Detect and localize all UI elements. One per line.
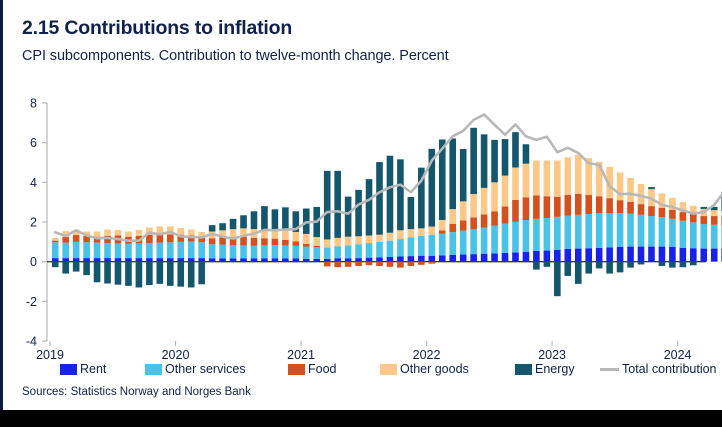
bar-segment-other-services: [94, 243, 101, 258]
legend-item-other-goods[interactable]: Other goods: [380, 362, 469, 376]
bar-segment-other-services: [282, 245, 289, 258]
bar-segment-food: [690, 214, 697, 222]
bar-segment-rent: [251, 258, 258, 261]
bar-segment-energy: [167, 262, 174, 286]
bar-segment-rent: [659, 247, 666, 262]
bar-segment-other-goods: [711, 210, 718, 216]
bar-segment-other-goods: [376, 235, 383, 242]
bar-segment-other-services: [104, 243, 111, 258]
legend-item-total-contribution[interactable]: Total contribution: [600, 362, 717, 376]
bar-segment-rent: [512, 253, 519, 262]
bar-segment-energy: [157, 262, 164, 284]
bar-segment-other-services: [523, 220, 530, 252]
bar-segment-other-services: [585, 214, 592, 248]
y-axis-tick-label: -4: [26, 335, 37, 349]
legend-color-swatch-icon: [288, 364, 305, 375]
bar-segment-rent: [366, 258, 373, 262]
bar-segment-other-goods: [345, 237, 352, 246]
bar-segment-energy: [115, 262, 122, 285]
bar-segment-other-services: [136, 243, 143, 258]
bar-segment-other-services: [429, 235, 436, 256]
bar-segment-rent: [554, 250, 561, 262]
bar-segment-rent: [429, 256, 436, 262]
bar-segment-rent: [700, 249, 707, 262]
bar-segment-other-services: [460, 231, 467, 255]
bar-segment-rent: [638, 247, 645, 262]
bar-segment-energy: [564, 262, 571, 276]
bar-segment-rent: [585, 248, 592, 261]
bar-segment-other-services: [700, 224, 707, 249]
bar-segment-other-services: [690, 222, 697, 248]
bar-segment-rent: [449, 255, 456, 262]
bar-segment-food: [669, 210, 676, 219]
bar-segment-food: [554, 197, 561, 217]
bar-segment-other-services: [167, 242, 174, 258]
bar-segment-food: [313, 246, 320, 247]
bar-segment-food: [397, 262, 404, 268]
bar-segment-other-goods: [512, 167, 519, 200]
legend-color-swatch-icon: [380, 364, 397, 375]
bar-segment-food: [387, 262, 394, 267]
bar-segment-other-goods: [638, 184, 645, 204]
bar-segment-rent: [408, 256, 415, 262]
bar-segment-other-goods: [125, 232, 132, 237]
bar-segment-other-goods: [439, 220, 446, 230]
bar-segment-energy: [177, 262, 184, 287]
bar-segment-rent: [355, 258, 362, 262]
bar-segment-rent: [491, 253, 498, 261]
bar-segment-energy: [659, 262, 666, 266]
bar-segment-other-services: [554, 217, 561, 250]
bar-segment-other-goods: [502, 176, 509, 207]
bar-segment-rent: [52, 258, 59, 262]
bar-segment-energy: [136, 262, 143, 288]
bar-segment-food: [585, 195, 592, 214]
bar-segment-other-services: [125, 244, 132, 258]
bar-segment-food: [470, 217, 477, 229]
bar-segment-energy: [209, 225, 216, 231]
bar-segment-rent: [125, 258, 132, 262]
bar-segment-other-services: [177, 242, 184, 258]
bar-segment-energy: [376, 162, 383, 235]
bar-segment-other-goods: [397, 230, 404, 239]
bar-segment-food: [481, 214, 488, 227]
bar-segment-food: [439, 230, 446, 233]
bar-segment-other-services: [209, 244, 216, 258]
bar-segment-other-services: [680, 221, 687, 248]
bar-segment-food: [293, 241, 300, 245]
legend-color-swatch-icon: [60, 364, 77, 375]
bar-segment-energy: [397, 159, 404, 230]
bar-segment-other-services: [512, 222, 519, 253]
bar-segment-rent: [146, 258, 153, 262]
bar-segment-food: [408, 262, 415, 266]
bar-segment-energy: [690, 262, 697, 266]
bar-segment-food: [429, 262, 436, 264]
bar-segment-energy: [146, 262, 153, 285]
bar-segment-other-goods: [627, 178, 634, 202]
bar-segment-other-services: [564, 216, 571, 249]
bar-segment-other-services: [544, 218, 551, 251]
bar-segment-rent: [481, 254, 488, 262]
bar-segment-food: [680, 212, 687, 221]
bar-segment-other-goods: [282, 231, 289, 240]
bar-segment-other-services: [596, 213, 603, 248]
bar-segment-rent: [617, 247, 624, 262]
bar-segment-rent: [62, 258, 69, 262]
bar-segment-energy: [617, 262, 624, 273]
bar-segment-other-goods: [313, 237, 320, 246]
bar-segment-food: [491, 211, 498, 225]
bar-segment-other-services: [648, 216, 655, 247]
bar-segment-rent: [177, 258, 184, 262]
legend-color-swatch-icon: [515, 364, 532, 375]
bar-segment-energy: [73, 262, 80, 272]
bar-segment-rent: [115, 258, 122, 262]
bar-segment-energy: [387, 156, 394, 233]
bar-segment-rent: [73, 258, 80, 262]
bar-segment-rent: [293, 258, 300, 261]
x-axis-tick-label: 2022: [413, 348, 441, 362]
bar-segment-rent: [439, 255, 446, 261]
bar-segment-rent: [272, 258, 279, 261]
y-axis-tick-label: -2: [26, 295, 37, 309]
bar-segment-energy: [700, 207, 707, 209]
bar-segment-food: [700, 216, 707, 224]
bar-segment-rent: [397, 257, 404, 262]
bar-segment-food: [502, 207, 509, 224]
bar-segment-other-goods: [418, 228, 425, 236]
bar-segment-other-goods: [523, 164, 530, 198]
bar-segment-other-goods: [429, 227, 436, 235]
bar-segment-food: [418, 262, 425, 265]
bar-segment-other-services: [439, 234, 446, 256]
bar-segment-energy: [554, 262, 561, 297]
bar-segment-other-services: [575, 215, 582, 249]
bar-segment-rent: [376, 257, 383, 261]
bar-segment-rent: [669, 247, 676, 262]
bar-segment-other-services: [502, 224, 509, 253]
bar-segment-food: [711, 216, 718, 225]
y-axis-tick-label: 4: [30, 176, 37, 190]
chart-plot-area: -4-202468201920202021202220232024: [0, 0, 722, 380]
bar-segment-energy: [648, 187, 655, 189]
bar-segment-rent: [460, 255, 467, 262]
bar-segment-rent: [198, 258, 205, 262]
bar-segment-other-services: [606, 213, 613, 247]
bar-segment-food: [345, 262, 352, 267]
bar-segment-rent: [523, 252, 530, 262]
bar-segment-rent: [334, 258, 341, 261]
bar-segment-rent: [240, 258, 247, 261]
bar-segment-rent: [219, 258, 226, 261]
legend-item-rent[interactable]: Rent: [60, 362, 106, 376]
bar-segment-food: [512, 200, 519, 222]
bar-segment-other-goods: [324, 239, 331, 247]
legend-item-energy[interactable]: Energy: [515, 362, 575, 376]
bar-segment-food: [638, 204, 645, 215]
bar-segment-other-goods: [470, 194, 477, 217]
bar-segment-rent: [575, 249, 582, 262]
y-axis-tick-label: 8: [30, 97, 37, 111]
bar-segment-rent: [188, 258, 195, 262]
bar-segment-rent: [157, 258, 164, 262]
chart-legend: RentOther servicesFoodOther goodsEnergyT…: [60, 361, 700, 377]
bar-segment-other-services: [659, 217, 666, 246]
bar-segment-other-services: [387, 241, 394, 257]
legend-item-label: Other services: [165, 362, 246, 376]
bar-segment-food: [659, 208, 666, 218]
bar-segment-food: [62, 237, 69, 243]
y-axis-tick-label: 2: [30, 216, 37, 230]
x-axis-tick-label: 2024: [664, 348, 692, 362]
bar-segment-other-services: [408, 237, 415, 256]
bar-segment-other-services: [52, 242, 59, 258]
bar-segment-other-services: [533, 219, 540, 251]
bar-segment-rent: [282, 258, 289, 261]
bar-segment-energy: [219, 223, 226, 230]
bar-segment-rent: [544, 251, 551, 262]
bar-segment-other-services: [324, 247, 331, 259]
bar-segment-food: [366, 262, 373, 266]
bar-segment-other-services: [198, 242, 205, 258]
bar-segment-other-goods: [230, 229, 237, 237]
bar-segment-other-goods: [104, 230, 111, 236]
bar-segment-other-services: [146, 243, 153, 258]
bar-segment-other-services: [449, 232, 456, 255]
x-axis-tick-label: 2019: [36, 348, 64, 362]
bar-segment-other-services: [481, 228, 488, 254]
bar-segment-other-services: [230, 245, 237, 258]
bar-segment-rent: [313, 259, 320, 262]
bar-segment-food: [209, 238, 216, 244]
bar-segment-energy: [449, 139, 456, 210]
bar-segment-energy: [272, 209, 279, 230]
bar-segment-energy: [324, 171, 331, 240]
bar-segment-other-services: [345, 245, 352, 258]
bar-segment-rent: [303, 259, 310, 262]
bar-segment-energy: [627, 262, 634, 268]
bar-segment-other-services: [376, 242, 383, 257]
bar-segment-other-services: [470, 229, 477, 254]
bar-segment-other-services: [491, 226, 498, 254]
bar-segment-food: [52, 241, 59, 243]
bar-segment-food: [575, 194, 582, 215]
bar-segment-other-goods: [334, 238, 341, 246]
bar-segment-other-goods: [355, 236, 362, 244]
bar-segment-energy: [669, 262, 676, 268]
y-axis-tick-label: 6: [30, 136, 37, 150]
bar-segment-other-services: [293, 246, 300, 259]
bar-segment-other-services: [397, 239, 404, 256]
bar-segment-other-goods: [554, 161, 561, 197]
bar-segment-other-goods: [136, 230, 143, 236]
bar-segment-food: [523, 197, 530, 220]
bar-segment-food: [617, 200, 624, 213]
bar-segment-rent: [606, 247, 613, 261]
bar-segment-food: [376, 262, 383, 266]
bar-segment-other-goods: [533, 161, 540, 196]
bar-segment-energy: [575, 262, 582, 284]
contributions-to-inflation-chart: -4-202468201920202021202220232024: [0, 0, 722, 380]
bar-segment-food: [355, 262, 362, 266]
bar-segment-rent: [167, 258, 174, 262]
legend-color-swatch-icon: [145, 364, 162, 375]
bar-segment-energy: [125, 262, 132, 286]
bar-segment-other-goods: [449, 209, 456, 224]
bar-segment-food: [167, 234, 174, 242]
bar-segment-energy: [638, 262, 645, 265]
bar-segment-energy: [470, 128, 477, 194]
bar-segment-energy: [198, 262, 205, 285]
bar-segment-food: [627, 202, 634, 214]
bar-segment-energy: [261, 206, 268, 230]
bar-segment-energy: [502, 139, 509, 175]
bar-segment-rent: [261, 258, 268, 261]
bar-segment-other-goods: [481, 188, 488, 215]
bar-segment-other-goods: [564, 157, 571, 195]
bar-segment-energy: [491, 140, 498, 182]
bar-segment-rent: [83, 258, 90, 262]
bar-segment-energy: [596, 262, 603, 269]
legend-item-label: Energy: [535, 362, 575, 376]
bar-segment-other-goods: [460, 201, 467, 220]
bar-segment-food: [240, 237, 247, 246]
bar-segment-other-goods: [52, 238, 59, 241]
bar-segment-energy: [366, 179, 373, 235]
bar-segment-rent: [209, 258, 216, 261]
x-axis-tick-label: 2021: [287, 348, 315, 362]
bar-segment-other-services: [219, 245, 226, 259]
bar-segment-rent: [345, 258, 352, 261]
bar-segment-food: [272, 239, 279, 245]
bar-segment-other-services: [73, 242, 80, 258]
bar-segment-food: [73, 235, 80, 242]
bar-segment-energy: [460, 149, 467, 201]
bar-segment-rent: [470, 254, 477, 262]
bar-segment-other-goods: [408, 229, 415, 237]
bar-segment-energy: [533, 262, 540, 270]
bar-segment-food: [564, 195, 571, 216]
bar-segment-food: [606, 198, 613, 213]
chart-page: 2.15 Contributions to inflation CPI subc…: [0, 0, 722, 427]
y-axis-tick-label: 0: [30, 255, 37, 269]
bar-segment-rent: [711, 249, 718, 262]
bar-segment-other-services: [303, 247, 310, 259]
bar-segment-other-services: [272, 245, 279, 258]
bar-segment-rent: [596, 248, 603, 262]
bar-segment-other-services: [62, 243, 69, 258]
bar-segment-rent: [94, 258, 101, 262]
bar-segment-rent: [387, 257, 394, 262]
bar-segment-food: [544, 196, 551, 218]
bar-segment-energy: [680, 262, 687, 268]
bar-segment-energy: [62, 262, 69, 274]
bar-segment-other-goods: [177, 228, 184, 235]
bar-segment-other-services: [240, 245, 247, 258]
legend-item-label: Rent: [80, 362, 106, 376]
bottom-letterbox: [0, 410, 722, 427]
bar-segment-food: [282, 240, 289, 246]
bar-segment-other-services: [418, 236, 425, 256]
bar-segment-energy: [230, 219, 237, 229]
bar-segment-other-services: [261, 245, 268, 258]
bar-segment-food: [596, 196, 603, 213]
bar-segment-other-goods: [387, 233, 394, 241]
bar-segment-food: [219, 237, 226, 244]
bar-segment-energy: [585, 262, 592, 274]
bar-segment-rent: [627, 247, 634, 262]
bar-segment-energy: [355, 190, 362, 236]
bar-segment-energy: [523, 144, 530, 163]
bar-series-group: [52, 128, 722, 296]
bar-segment-energy: [251, 211, 258, 229]
x-axis-tick-label: 2020: [162, 348, 190, 362]
bar-segment-other-services: [669, 219, 676, 247]
legend-item-label: Total contribution: [622, 362, 717, 376]
bar-segment-rent: [502, 253, 509, 262]
bar-segment-energy: [104, 262, 111, 284]
legend-item-label: Food: [308, 362, 337, 376]
legend-item-label: Other goods: [400, 362, 469, 376]
bar-segment-other-goods: [575, 155, 582, 194]
bar-segment-other-services: [115, 243, 122, 258]
bar-segment-food: [648, 206, 655, 216]
bar-segment-rent: [680, 248, 687, 262]
bar-segment-food: [334, 262, 341, 268]
bar-segment-rent: [136, 258, 143, 262]
bar-segment-other-services: [627, 214, 634, 247]
bar-segment-rent: [418, 256, 425, 262]
bar-segment-other-goods: [491, 182, 498, 211]
bar-segment-energy: [240, 215, 247, 228]
legend-item-food[interactable]: Food: [288, 362, 337, 376]
bar-segment-energy: [345, 197, 352, 237]
bar-segment-food: [303, 244, 310, 247]
bar-segment-other-services: [157, 243, 164, 258]
x-axis-group: 201920202021202220232024: [36, 341, 691, 362]
bar-segment-other-services: [251, 246, 258, 259]
bar-segment-rent: [533, 251, 540, 262]
bar-segment-energy: [512, 132, 519, 167]
bar-segment-other-services: [334, 246, 341, 258]
bar-segment-energy: [83, 262, 90, 275]
bar-segment-food: [449, 224, 456, 232]
bar-segment-other-services: [313, 247, 320, 259]
bar-segment-other-services: [711, 225, 718, 249]
bar-segment-other-services: [188, 241, 195, 258]
bar-segment-other-services: [617, 213, 624, 247]
bar-segment-rent: [324, 259, 331, 262]
bar-segment-other-goods: [303, 234, 310, 244]
bar-segment-energy: [544, 262, 551, 267]
bar-segment-energy: [94, 262, 101, 283]
bar-segment-other-services: [638, 215, 645, 247]
bar-segment-food: [324, 262, 331, 267]
legend-line-swatch-icon: [600, 368, 619, 371]
bar-segment-other-goods: [544, 161, 551, 197]
bar-segment-other-services: [355, 244, 362, 258]
bar-segment-rent: [648, 247, 655, 262]
bar-segment-rent: [104, 258, 111, 262]
bar-segment-food: [533, 195, 540, 218]
bar-segment-other-goods: [188, 230, 195, 236]
bar-segment-food: [261, 238, 268, 245]
legend-item-other-services[interactable]: Other services: [145, 362, 246, 376]
chart-card: 2.15 Contributions to inflation CPI subc…: [0, 0, 722, 410]
bar-segment-other-goods: [115, 230, 122, 236]
bar-segment-food: [460, 220, 467, 230]
